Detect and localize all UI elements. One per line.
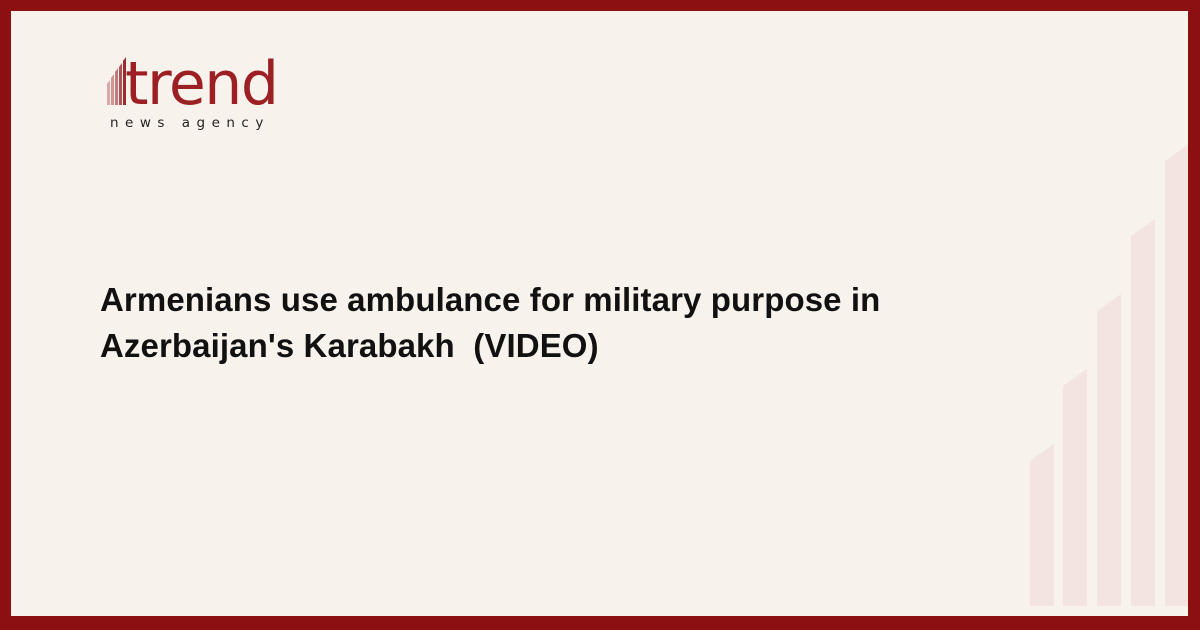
social-share-card: trend news agency Armenians use ambulanc…	[0, 0, 1200, 630]
brand-logo[interactable]: trend news agency	[107, 53, 307, 145]
watermark-bar	[1030, 461, 1054, 606]
ascending-bars-watermark-icon	[1030, 166, 1188, 606]
watermark-bar	[1097, 311, 1121, 606]
watermark-bar	[1165, 161, 1188, 606]
card-canvas: trend news agency Armenians use ambulanc…	[11, 11, 1188, 616]
logo-bar	[119, 67, 122, 105]
logo-bar	[107, 84, 110, 105]
logo-tagline: news agency	[110, 115, 270, 131]
watermark-bar	[1131, 236, 1155, 606]
logo-wordmark: trend	[125, 53, 277, 115]
logo-bar	[115, 72, 118, 105]
logo-bar	[111, 78, 114, 105]
article-headline: Armenians use ambulance for military pur…	[100, 277, 1000, 369]
watermark-bar	[1063, 386, 1087, 606]
